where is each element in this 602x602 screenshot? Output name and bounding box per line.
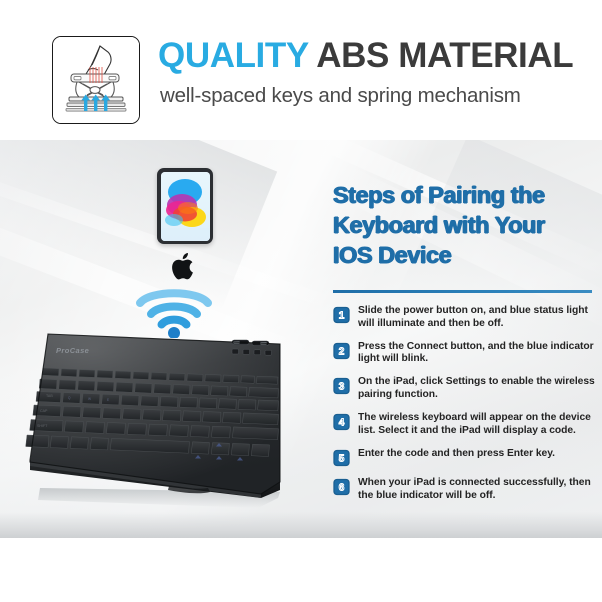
- svg-text:5: 5: [339, 453, 345, 464]
- svg-text:2: 2: [339, 346, 345, 357]
- svg-text:1: 1: [339, 311, 345, 322]
- ipad-illustration: [157, 168, 213, 244]
- header-title-rest: ABS MATERIAL: [308, 36, 573, 75]
- step-text: When your iPad is connected successfully…: [358, 477, 595, 502]
- list-item: 6 When your iPad is connected successful…: [333, 477, 595, 502]
- step-number-badge: 5: [333, 449, 350, 467]
- svg-text:6: 6: [339, 483, 345, 494]
- list-item: 3 On the iPad, click Settings to enable …: [333, 376, 595, 401]
- step-text: On the iPad, click Settings to enable th…: [358, 376, 595, 401]
- step-number-badge: 1: [333, 306, 350, 324]
- step-number-badge: 4: [333, 413, 350, 431]
- steps-heading-line-1: Steps of Pairing the: [333, 180, 591, 210]
- wireless-keyboard-illustration: ProCase: [18, 322, 313, 522]
- heading-divider: [333, 290, 592, 293]
- svg-text:SHIFT: SHIFT: [37, 424, 48, 428]
- svg-text:3: 3: [339, 382, 345, 393]
- header-banner: QUALITY ABS MATERIAL well-spaced keys an…: [0, 0, 602, 140]
- svg-text:W: W: [88, 397, 91, 401]
- step-text: Press the Connect button, and the blue i…: [358, 341, 595, 366]
- steps-heading-line-3: IOS Device: [333, 240, 591, 270]
- ipad-screen: [161, 172, 210, 241]
- list-item: 4 The wireless keyboard will appear on t…: [333, 412, 595, 437]
- header-subtitle: well-spaced keys and spring mechanism: [160, 84, 590, 108]
- step-number-badge: 6: [333, 478, 350, 496]
- list-item: 1 Slide the power button on, and blue st…: [333, 305, 595, 330]
- steps-heading-line-2: Keyboard with Your: [333, 210, 591, 240]
- step-text: The wireless keyboard will appear on the…: [358, 412, 595, 437]
- list-item: 2 Press the Connect button, and the blue…: [333, 341, 595, 366]
- svg-text:TAB: TAB: [46, 394, 53, 398]
- svg-text:4: 4: [339, 418, 345, 429]
- step-number-badge: 3: [333, 377, 350, 395]
- step-text: Slide the power button on, and blue stat…: [358, 305, 595, 330]
- list-item: 5 Enter the code and then press Enter ke…: [333, 448, 595, 467]
- product-infographic: QUALITY ABS MATERIAL well-spaced keys an…: [0, 0, 602, 602]
- svg-text:ProCase: ProCase: [56, 346, 89, 355]
- apple-logo-icon: [167, 249, 201, 283]
- pairing-steps-list: 1 Slide the power button on, and blue st…: [333, 305, 595, 513]
- header-title: QUALITY ABS MATERIAL: [158, 34, 588, 78]
- scissor-switch-keycap-press-icon: [52, 36, 140, 124]
- steps-heading-block: Steps of Pairing the Keyboard with Your …: [333, 180, 591, 270]
- header-title-highlight: QUALITY: [158, 36, 308, 75]
- svg-text:CAP: CAP: [40, 409, 48, 413]
- svg-text:E: E: [107, 398, 109, 402]
- step-number-badge: 2: [333, 342, 350, 360]
- step-text: Enter the code and then press Enter key.: [358, 448, 555, 461]
